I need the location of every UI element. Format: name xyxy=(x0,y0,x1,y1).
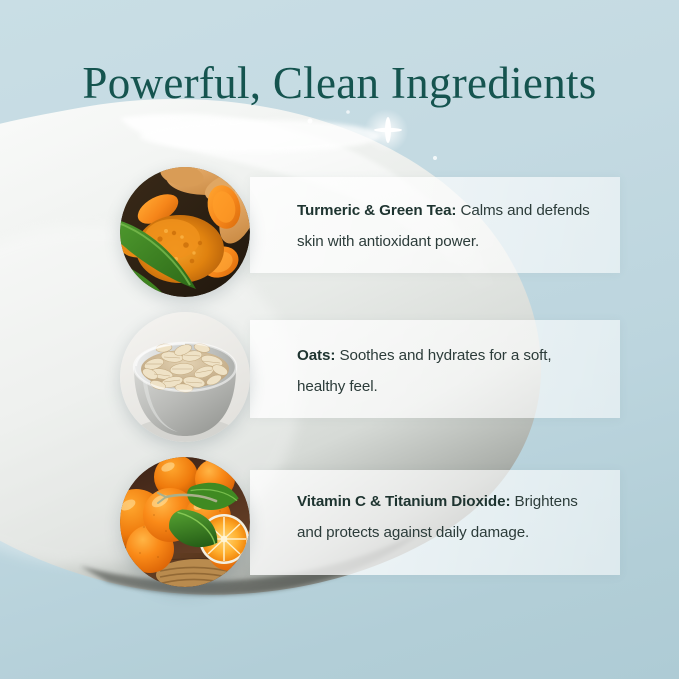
turmeric-photo xyxy=(120,167,250,297)
oats-photo xyxy=(120,312,250,442)
ingredients-infographic: Powerful, Clean Ingredients Turmeric & G… xyxy=(0,0,679,679)
ingredient-name: Vitamin C & Titanium Dioxide: xyxy=(297,493,510,510)
oranges-photo xyxy=(120,457,250,587)
ingredient-name: Turmeric & Green Tea: xyxy=(297,202,456,219)
ingredient-panel: Oats: Soothes and hydrates for a soft, h… xyxy=(250,320,620,418)
ingredient-row-turmeric: Turmeric & Green Tea: Calms and defends … xyxy=(0,157,679,307)
ingredient-benefit: Soothes and hydrates for a soft, healthy… xyxy=(297,347,552,395)
ingredient-row-oats: Oats: Soothes and hydrates for a soft, h… xyxy=(0,302,679,452)
ingredient-text: Turmeric & Green Tea: Calms and defends … xyxy=(297,195,598,257)
ingredient-panel: Vitamin C & Titanium Dioxide: Brightens … xyxy=(250,470,620,575)
ingredient-row-vitamin-c: Vitamin C & Titanium Dioxide: Brightens … xyxy=(0,447,679,597)
ingredient-panel: Turmeric & Green Tea: Calms and defends … xyxy=(250,177,620,273)
ingredient-text: Oats: Soothes and hydrates for a soft, h… xyxy=(297,340,598,402)
ingredient-text: Vitamin C & Titanium Dioxide: Brightens … xyxy=(297,486,598,548)
ingredient-name: Oats: xyxy=(297,347,335,364)
page-title: Powerful, Clean Ingredients xyxy=(0,60,679,107)
